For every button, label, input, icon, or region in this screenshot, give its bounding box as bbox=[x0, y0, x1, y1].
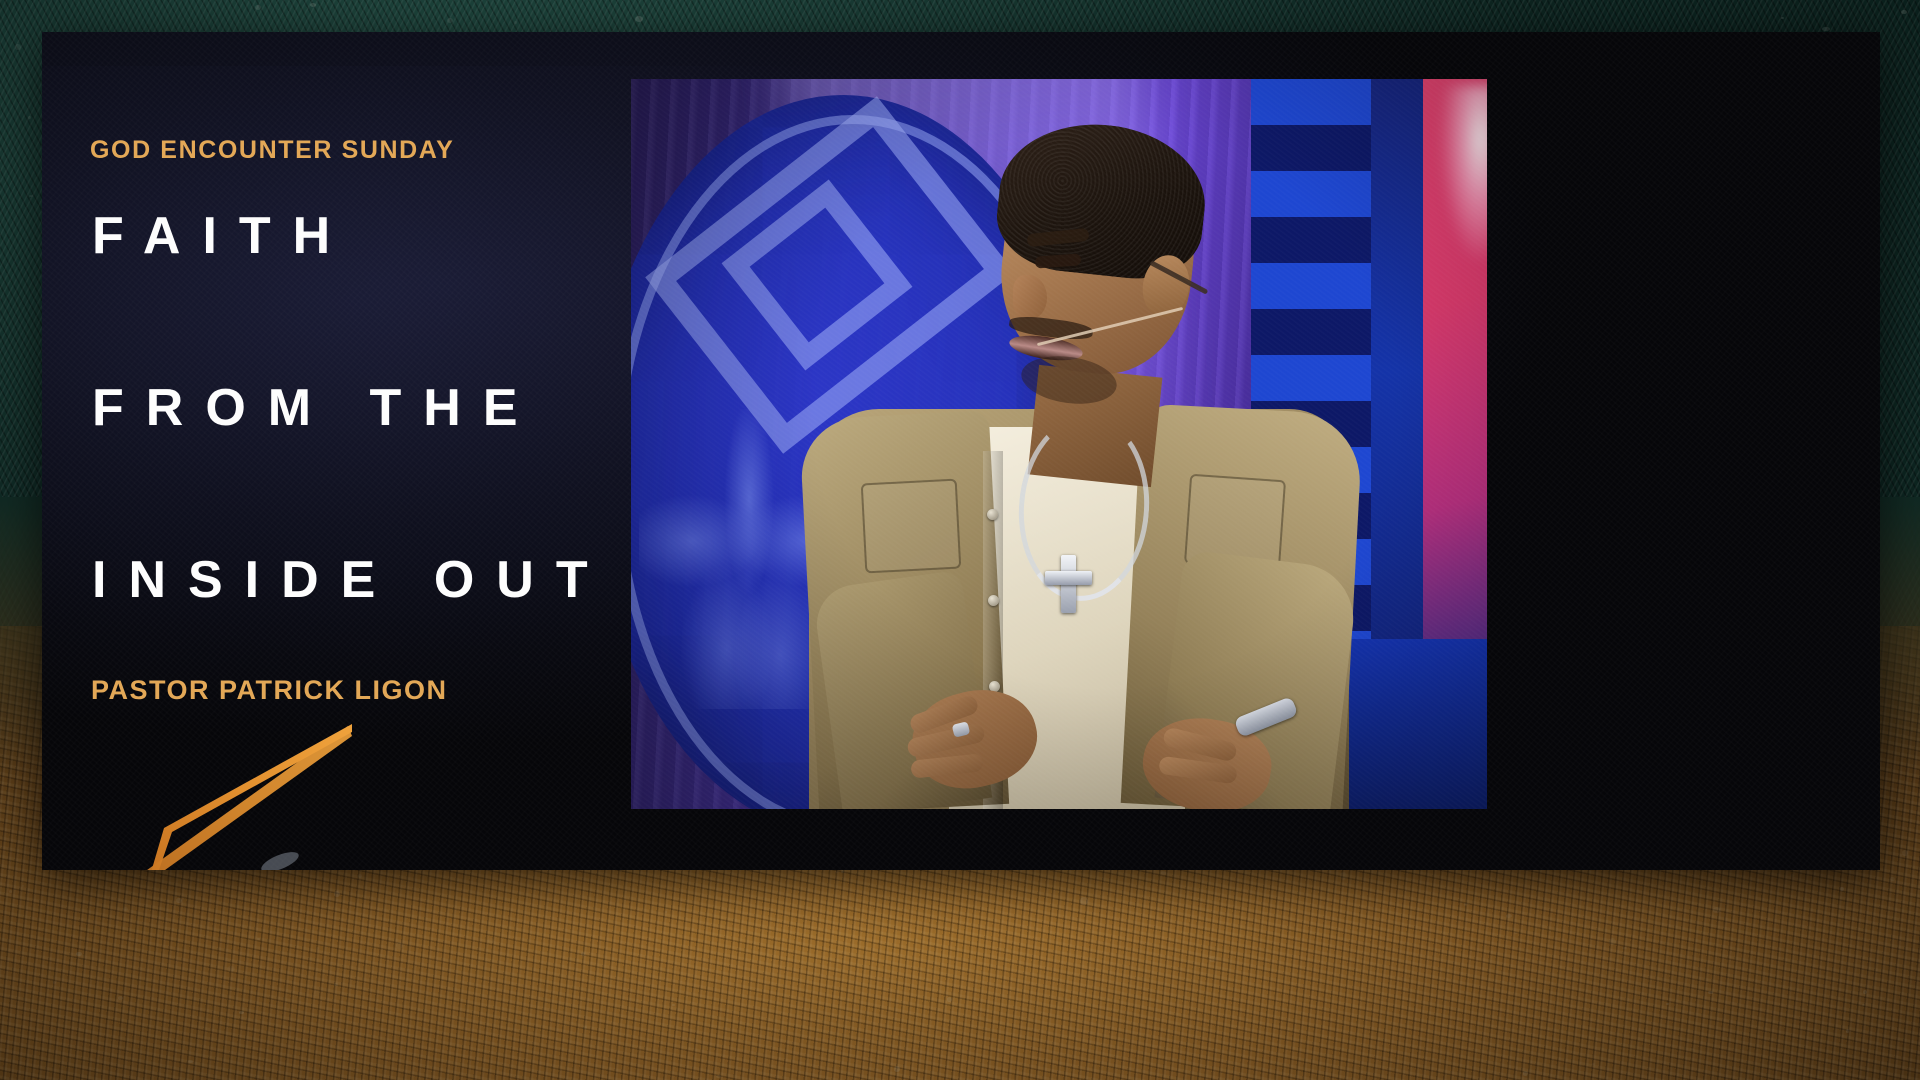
event-eyebrow: GOD ENCOUNTER SUNDAY bbox=[90, 136, 454, 165]
series-title-line-2: FROM THE bbox=[92, 382, 540, 434]
text-column: GOD ENCOUNTER SUNDAY FAITH FROM THE INSI… bbox=[90, 32, 635, 870]
series-title-line-3: INSIDE OUT bbox=[92, 554, 610, 606]
sermon-graphic-card: GOD ENCOUNTER SUNDAY FAITH FROM THE INSI… bbox=[42, 32, 1880, 870]
speaker-byline: PASTOR PATRICK LIGON bbox=[91, 675, 448, 706]
series-title-line-1: FAITH bbox=[92, 210, 352, 262]
photo-grain bbox=[631, 79, 1487, 809]
speaker-photo bbox=[631, 79, 1487, 809]
